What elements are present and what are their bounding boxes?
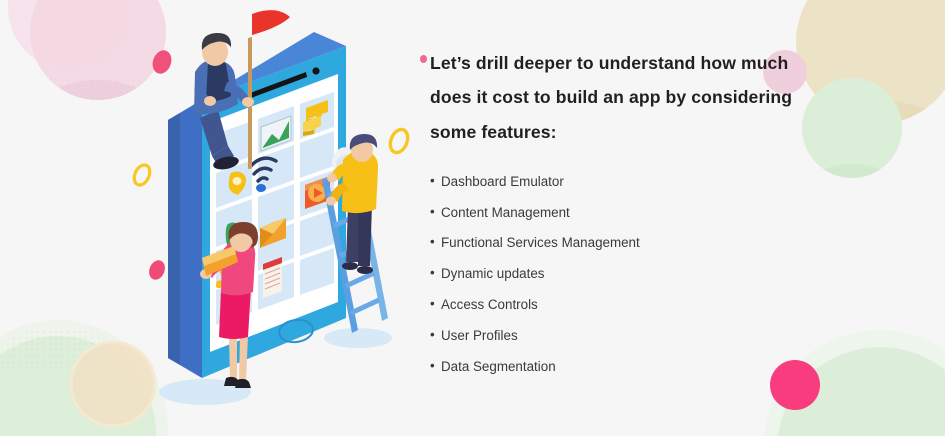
bullet-glyph: • (430, 174, 435, 187)
bullet-glyph: • (430, 359, 435, 372)
illustration-isometric-phone (100, 0, 440, 436)
list-item: • Access Controls (430, 298, 860, 311)
headline-line-1: Let’s drill deeper to understand how muc… (430, 46, 860, 80)
headline-line-3: some features: (430, 115, 860, 149)
bullet-glyph: • (430, 328, 435, 341)
list-item-label: Data Segmentation (441, 359, 556, 374)
woman-leg-front (239, 336, 248, 380)
bullet-glyph: • (430, 235, 435, 248)
list-item: • Dynamic updates (430, 267, 860, 280)
flag-cloth (252, 10, 290, 35)
list-item-label: User Profiles (441, 328, 518, 343)
feature-list: • Dashboard Emulator • Content Managemen… (430, 175, 860, 373)
bullet-glyph: • (430, 297, 435, 310)
text-content-block: Let’s drill deeper to understand how muc… (430, 46, 860, 390)
list-item: • Dashboard Emulator (430, 175, 860, 188)
list-item: • Data Segmentation (430, 360, 860, 373)
list-item-label: Functional Services Management (441, 235, 640, 250)
list-item: • Content Management (430, 206, 860, 219)
ladder-shadow (324, 328, 392, 348)
headline-line-2: does it cost to build an app by consider… (430, 80, 860, 114)
page-title: Let’s drill deeper to understand how muc… (430, 46, 860, 149)
list-item-label: Dynamic updates (441, 266, 544, 281)
man-flag-hand (242, 97, 254, 107)
bullet-glyph: • (430, 266, 435, 279)
notepad-icon (263, 257, 282, 298)
phone-left-side-shade (168, 113, 180, 365)
bullet-glyph: • (430, 205, 435, 218)
phone-camera (312, 67, 319, 74)
slide-canvas: Let’s drill deeper to understand how muc… (0, 0, 945, 436)
list-item-label: Content Management (441, 205, 570, 220)
woman-shoe-front (235, 379, 251, 388)
headline-marker-dot (420, 55, 427, 63)
list-item-label: Access Controls (441, 297, 538, 312)
list-item: • User Profiles (430, 329, 860, 342)
woman-leg-back (229, 336, 237, 380)
list-item: • Functional Services Management (430, 236, 860, 249)
ladder-man-leg-front (358, 204, 372, 266)
list-item-label: Dashboard Emulator (441, 174, 564, 189)
